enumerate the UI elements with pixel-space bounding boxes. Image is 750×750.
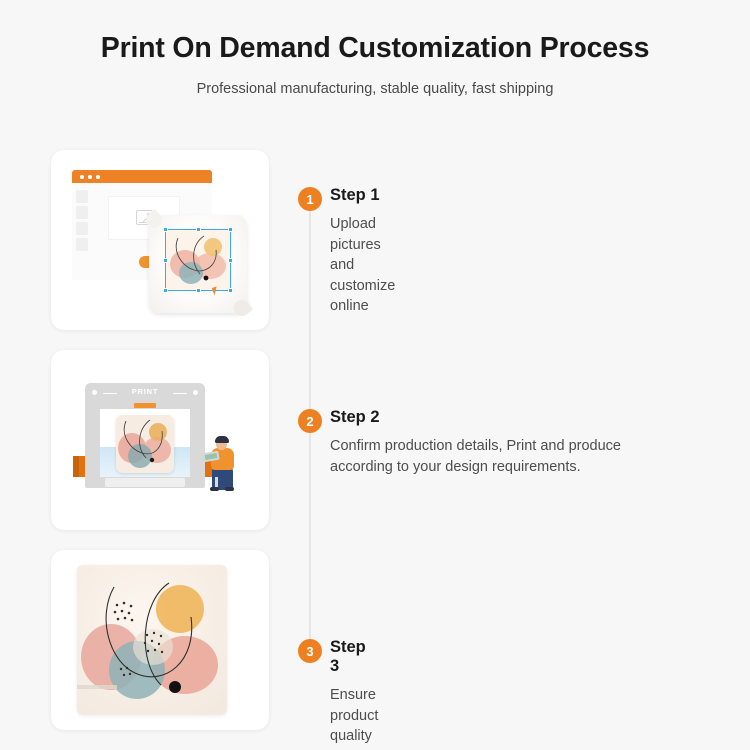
browser-dot-icon	[88, 175, 92, 179]
printing-machine-illustration: PRINT	[51, 350, 269, 530]
printer-label: PRINT	[132, 387, 159, 396]
page-subtitle: Professional manufacturing, stable quali…	[0, 81, 750, 97]
step-1-number-badge: 1	[298, 187, 322, 211]
browser-sidebar-item	[76, 238, 88, 251]
pillow-artwork-svg	[116, 415, 174, 473]
printer-knob-icon	[92, 390, 97, 395]
browser-dot-icon	[96, 175, 100, 179]
browser-dot-icon	[80, 175, 84, 179]
step-1-text-block: 1 Step 1 Upload pictures and customize o…	[330, 186, 395, 317]
step-3-illustration-card	[51, 550, 269, 730]
step-3-text-block: 3 Step 3 Ensure product quality and ship…	[330, 638, 378, 750]
printer-body: PRINT	[85, 383, 205, 488]
step-2-text-block: 2 Step 2 Confirm production details, Pri…	[330, 408, 650, 477]
printer-dash-line	[173, 393, 187, 394]
step-2-title: Step 2	[330, 408, 650, 427]
step-1-illustration-card: SAVE	[51, 150, 269, 330]
pillow-artwork	[166, 230, 230, 290]
person-shoe	[225, 487, 234, 491]
printer-base-accent	[73, 456, 79, 477]
product-pillow	[77, 565, 227, 715]
browser-upload-pillow-illustration: SAVE	[51, 150, 269, 330]
selection-handle[interactable]	[196, 227, 201, 232]
selection-handle[interactable]	[163, 288, 168, 293]
person-shoe	[210, 487, 219, 491]
person-hair	[215, 436, 229, 443]
browser-sidebar-item	[76, 190, 88, 203]
abstract-art-svg	[166, 230, 230, 290]
printer-dash-line	[103, 393, 117, 394]
selection-handle[interactable]	[163, 227, 168, 232]
step-2-description: Confirm production details, Print and pr…	[330, 436, 650, 477]
browser-sidebar-item	[76, 206, 88, 219]
pillow-in-printer	[116, 415, 174, 473]
printer-tray	[105, 478, 185, 487]
step-3-number-badge: 3	[298, 639, 322, 663]
printer-top-panel: PRINT	[85, 383, 205, 402]
finished-pillow-product-illustration	[51, 550, 269, 730]
person-with-laptop-icon	[205, 434, 243, 489]
step-1-title: Step 1	[330, 186, 395, 205]
step-3-title: Step 3	[330, 638, 378, 676]
product-pillow-artwork-svg	[77, 565, 227, 715]
pillow-preview	[149, 215, 247, 313]
step-2-number-badge: 2	[298, 409, 322, 433]
selection-handle[interactable]	[228, 288, 233, 293]
printer-knob-icon	[193, 390, 198, 395]
step-3-description: Ensure product quality and ship to you q…	[330, 685, 378, 750]
printer-feed-slot	[134, 403, 156, 408]
selection-handle[interactable]	[196, 288, 201, 293]
page-header: Print On Demand Customization Process Pr…	[0, 0, 750, 97]
selection-handle[interactable]	[228, 258, 233, 263]
laptop-screen	[204, 453, 217, 460]
step-2-illustration-card: PRINT	[51, 350, 269, 530]
browser-title-bar	[72, 170, 212, 183]
selection-handle[interactable]	[163, 258, 168, 263]
browser-sidebar-item	[76, 222, 88, 235]
selection-handle[interactable]	[228, 227, 233, 232]
printer-window	[100, 409, 190, 477]
page-root: Print On Demand Customization Process Pr…	[0, 0, 750, 750]
page-title: Print On Demand Customization Process	[0, 32, 750, 65]
selection-box[interactable]	[165, 229, 231, 291]
step-1-description: Upload pictures and customize online	[330, 214, 395, 317]
